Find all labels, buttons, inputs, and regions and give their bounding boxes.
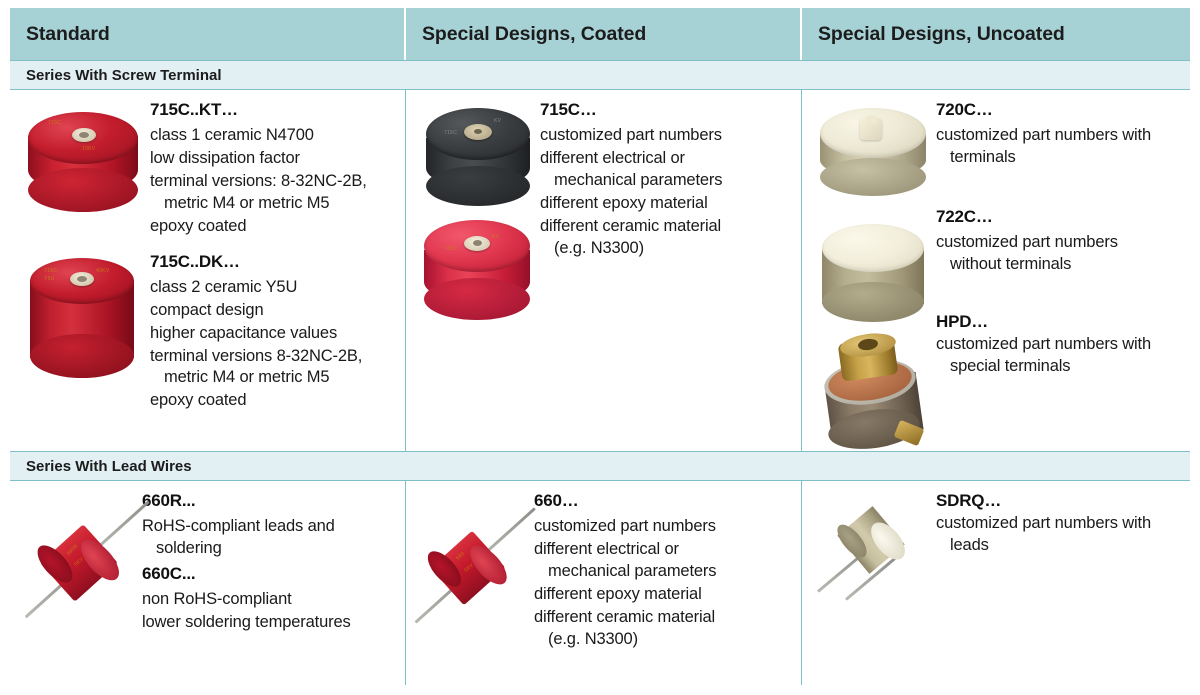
bullet-item: different ceramic material(e.g. N3300) (540, 216, 787, 260)
bullet-item: RoHS-compliant leads andsoldering (142, 516, 391, 560)
entry-bullets: class 2 ceramic Y5U compact design highe… (150, 277, 391, 413)
cap-722c-image (814, 220, 932, 324)
bullet-item: different epoxy material (540, 193, 787, 215)
column-header-label: Standard (26, 23, 110, 46)
column-header-label: Special Designs, Coated (422, 23, 646, 46)
column-header-standard: Standard (10, 8, 406, 60)
table-row-lead-wires: 660R 5KV 660R... RoHS-compliant leads an… (10, 481, 1190, 685)
entry-bullets: class 1 ceramic N4700 low dissipation fa… (150, 125, 391, 238)
entry-title: 722C… (936, 207, 1176, 227)
text-group-uncoated-screw: 720C… customized part numbers withtermin… (928, 100, 1176, 443)
capacitor-image-group: 660 5KV (414, 491, 526, 677)
bullet-item: epoxy coated (150, 390, 391, 412)
bullet-item: different ceramic material(e.g. N3300) (534, 607, 787, 651)
bullet-text: different ceramic material (540, 217, 721, 235)
entry-660c: 660C... non RoHS-compliant lower solderi… (142, 564, 391, 634)
cell-uncoated-screw: 720C… customized part numbers withtermin… (802, 90, 1190, 451)
entry-title: 715C..KT… (150, 100, 391, 120)
cell-standard-screw: 715C 10KV 715C Y5U 40KV 7 (10, 90, 406, 451)
bullet-text: different epoxy material (534, 585, 702, 603)
bullet-continuation: mechanical parameters (554, 170, 787, 192)
capacitor-image-group (810, 491, 928, 677)
capacitor-image-group: 715C KV 715C KV (414, 100, 530, 443)
bullet-text: different ceramic material (534, 608, 715, 626)
bullet-text: different epoxy material (540, 194, 708, 212)
text-group-standard-screw: 715C..KT… class 1 ceramic N4700 low diss… (146, 100, 391, 443)
cap-715c-dk-image: 715C Y5U 40KV (20, 252, 144, 380)
bullet-continuation: terminals (950, 147, 1176, 169)
bullet-continuation: metric M4 or metric M5 (164, 193, 391, 215)
bullet-text: customized part numbers with (936, 335, 1151, 353)
bullet-text: non RoHS-compliant (142, 590, 292, 608)
bullet-text: compact design (150, 301, 263, 319)
text-group-standard-lead: 660R... RoHS-compliant leads andsolderin… (140, 491, 391, 677)
column-header-label: Special Designs, Uncoated (818, 23, 1065, 46)
text-group-coated-screw: 715C… customized part numbers different … (530, 100, 787, 443)
bullet-item: lower soldering temperatures (142, 612, 391, 634)
table-row-screw-terminal: 715C 10KV 715C Y5U 40KV 7 (10, 90, 1190, 451)
entry-bullets: customized part numbers withleads (936, 513, 1176, 557)
bullet-text: customized part numbers (534, 517, 716, 535)
bullet-text: higher capacitance values (150, 324, 337, 342)
bullet-text: different electrical or (540, 149, 685, 167)
entry-title: 715C..DK… (150, 252, 391, 272)
column-header-special-coated: Special Designs, Coated (406, 8, 802, 60)
bullet-text: epoxy coated (150, 217, 246, 235)
bullet-continuation: metric M4 or metric M5 (164, 367, 391, 389)
section-band-screw-terminal: Series With Screw Terminal (10, 60, 1190, 90)
entry-660r: 660R... RoHS-compliant leads andsolderin… (142, 491, 391, 560)
capacitor-image-group: 660R 5KV (18, 491, 140, 677)
bullet-item: terminal versions: 8-32NC-2B,metric M4 o… (150, 171, 391, 215)
bullet-item: class 2 ceramic Y5U (150, 277, 391, 299)
bullet-text: customized part numbers with (936, 126, 1151, 144)
bullet-text: terminal versions 8-32NC-2B, (150, 347, 362, 365)
cap-660-image: 660 5KV (414, 501, 536, 631)
cap-715c-coated-pink-image: 715C KV (418, 216, 536, 322)
bullet-item: customized part numbers withspecial term… (936, 334, 1176, 378)
bullet-continuation: soldering (156, 538, 391, 560)
bullet-text: customized part numbers (936, 233, 1118, 251)
cap-660r-image: 660R 5KV (22, 497, 144, 627)
text-group-uncoated-lead: SDRQ… customized part numbers withleads (928, 491, 1176, 677)
bullet-text: different electrical or (534, 540, 679, 558)
bullet-item: higher capacitance values (150, 323, 391, 345)
entry-title: 720C… (936, 100, 1176, 120)
cap-715c-kt-image: 715C 10KV (24, 106, 144, 210)
bullet-text: RoHS-compliant leads and (142, 517, 335, 535)
column-header-special-uncoated: Special Designs, Uncoated (802, 8, 1190, 60)
section-band-label: Series With Screw Terminal (26, 67, 222, 84)
section-band-lead-wires: Series With Lead Wires (10, 451, 1190, 481)
bullet-continuation: (e.g. N3300) (554, 238, 787, 260)
entry-660: 660… customized part numbers different e… (534, 491, 787, 651)
entry-715c-dk: 715C..DK… class 2 ceramic Y5U compact de… (150, 252, 391, 413)
cap-sdrq-image (812, 497, 930, 617)
table-header-row: Standard Special Designs, Coated Special… (10, 8, 1190, 60)
bullet-item: customized part numbers (534, 516, 787, 538)
entry-bullets: customized part numbers withspecial term… (936, 334, 1176, 378)
bullet-text: low dissipation factor (150, 149, 300, 167)
entry-722c: 722C… customized part numberswithout ter… (936, 207, 1176, 276)
bullet-continuation: leads (950, 535, 1176, 557)
bullet-text: customized part numbers with (936, 514, 1151, 532)
entry-title: 660R... (142, 491, 391, 511)
bullet-item: customized part numbers withleads (936, 513, 1176, 557)
bullet-text: customized part numbers (540, 126, 722, 144)
bullet-continuation: special terminals (950, 356, 1176, 378)
cell-coated-screw: 715C KV 715C KV 715C… (406, 90, 802, 451)
entry-715c-kt: 715C..KT… class 1 ceramic N4700 low diss… (150, 100, 391, 238)
bullet-item: epoxy coated (150, 216, 391, 238)
cap-715c-coated-black-image: 715C KV (420, 104, 536, 206)
entry-bullets: customized part numbers different electr… (534, 516, 787, 651)
bullet-item: different electrical ormechanical parame… (534, 539, 787, 583)
entry-sdrq: SDRQ… customized part numbers withleads (936, 491, 1176, 557)
bullet-text: lower soldering temperatures (142, 613, 351, 631)
bullet-continuation: (e.g. N3300) (548, 629, 787, 651)
entry-bullets: customized part numbers different electr… (540, 125, 787, 260)
bullet-item: customized part numberswithout terminals (936, 232, 1176, 276)
entry-720c: 720C… customized part numbers withtermin… (936, 100, 1176, 169)
entry-715c-coated: 715C… customized part numbers different … (540, 100, 787, 260)
bullet-item: non RoHS-compliant (142, 589, 391, 611)
bullet-item: customized part numbers withterminals (936, 125, 1176, 169)
section-band-label: Series With Lead Wires (26, 458, 192, 475)
entry-bullets: non RoHS-compliant lower soldering tempe… (142, 589, 391, 634)
entry-bullets: customized part numbers withterminals (936, 125, 1176, 169)
bullet-continuation: without terminals (950, 254, 1176, 276)
bullet-item: compact design (150, 300, 391, 322)
capacitor-image-group (810, 100, 928, 443)
bullet-continuation: mechanical parameters (548, 561, 787, 583)
bullet-item: different electrical ormechanical parame… (540, 148, 787, 192)
entry-title: 660C... (142, 564, 391, 584)
capacitor-image-group: 715C 10KV 715C Y5U 40KV (18, 100, 146, 443)
entry-title: 715C… (540, 100, 787, 120)
text-group-coated-lead: 660… customized part numbers different e… (526, 491, 787, 677)
bullet-item: different epoxy material (534, 584, 787, 606)
entry-title: SDRQ… (936, 491, 1176, 511)
entry-bullets: RoHS-compliant leads andsoldering (142, 516, 391, 560)
cell-standard-lead: 660R 5KV 660R... RoHS-compliant leads an… (10, 481, 406, 685)
bullet-item: customized part numbers (540, 125, 787, 147)
cap-720c-image (814, 104, 932, 200)
entry-title: HPD… (936, 312, 1176, 332)
bullet-item: class 1 ceramic N4700 (150, 125, 391, 147)
product-comparison-table: Standard Special Designs, Coated Special… (0, 0, 1200, 695)
bullet-item: terminal versions 8-32NC-2B,metric M4 or… (150, 346, 391, 390)
bullet-text: terminal versions: 8-32NC-2B, (150, 172, 367, 190)
bullet-text: class 2 ceramic Y5U (150, 278, 297, 296)
entry-bullets: customized part numberswithout terminals (936, 232, 1176, 276)
bullet-item: low dissipation factor (150, 148, 391, 170)
bullet-text: class 1 ceramic N4700 (150, 126, 314, 144)
bullet-text: epoxy coated (150, 391, 246, 409)
cell-coated-lead: 660 5KV 660… customized part numbers dif… (406, 481, 802, 685)
entry-title: 660… (534, 491, 787, 511)
cell-uncoated-lead: SDRQ… customized part numbers withleads (802, 481, 1190, 685)
entry-hpd: HPD… customized part numbers withspecial… (936, 312, 1176, 378)
cap-hpd-image (810, 332, 932, 448)
